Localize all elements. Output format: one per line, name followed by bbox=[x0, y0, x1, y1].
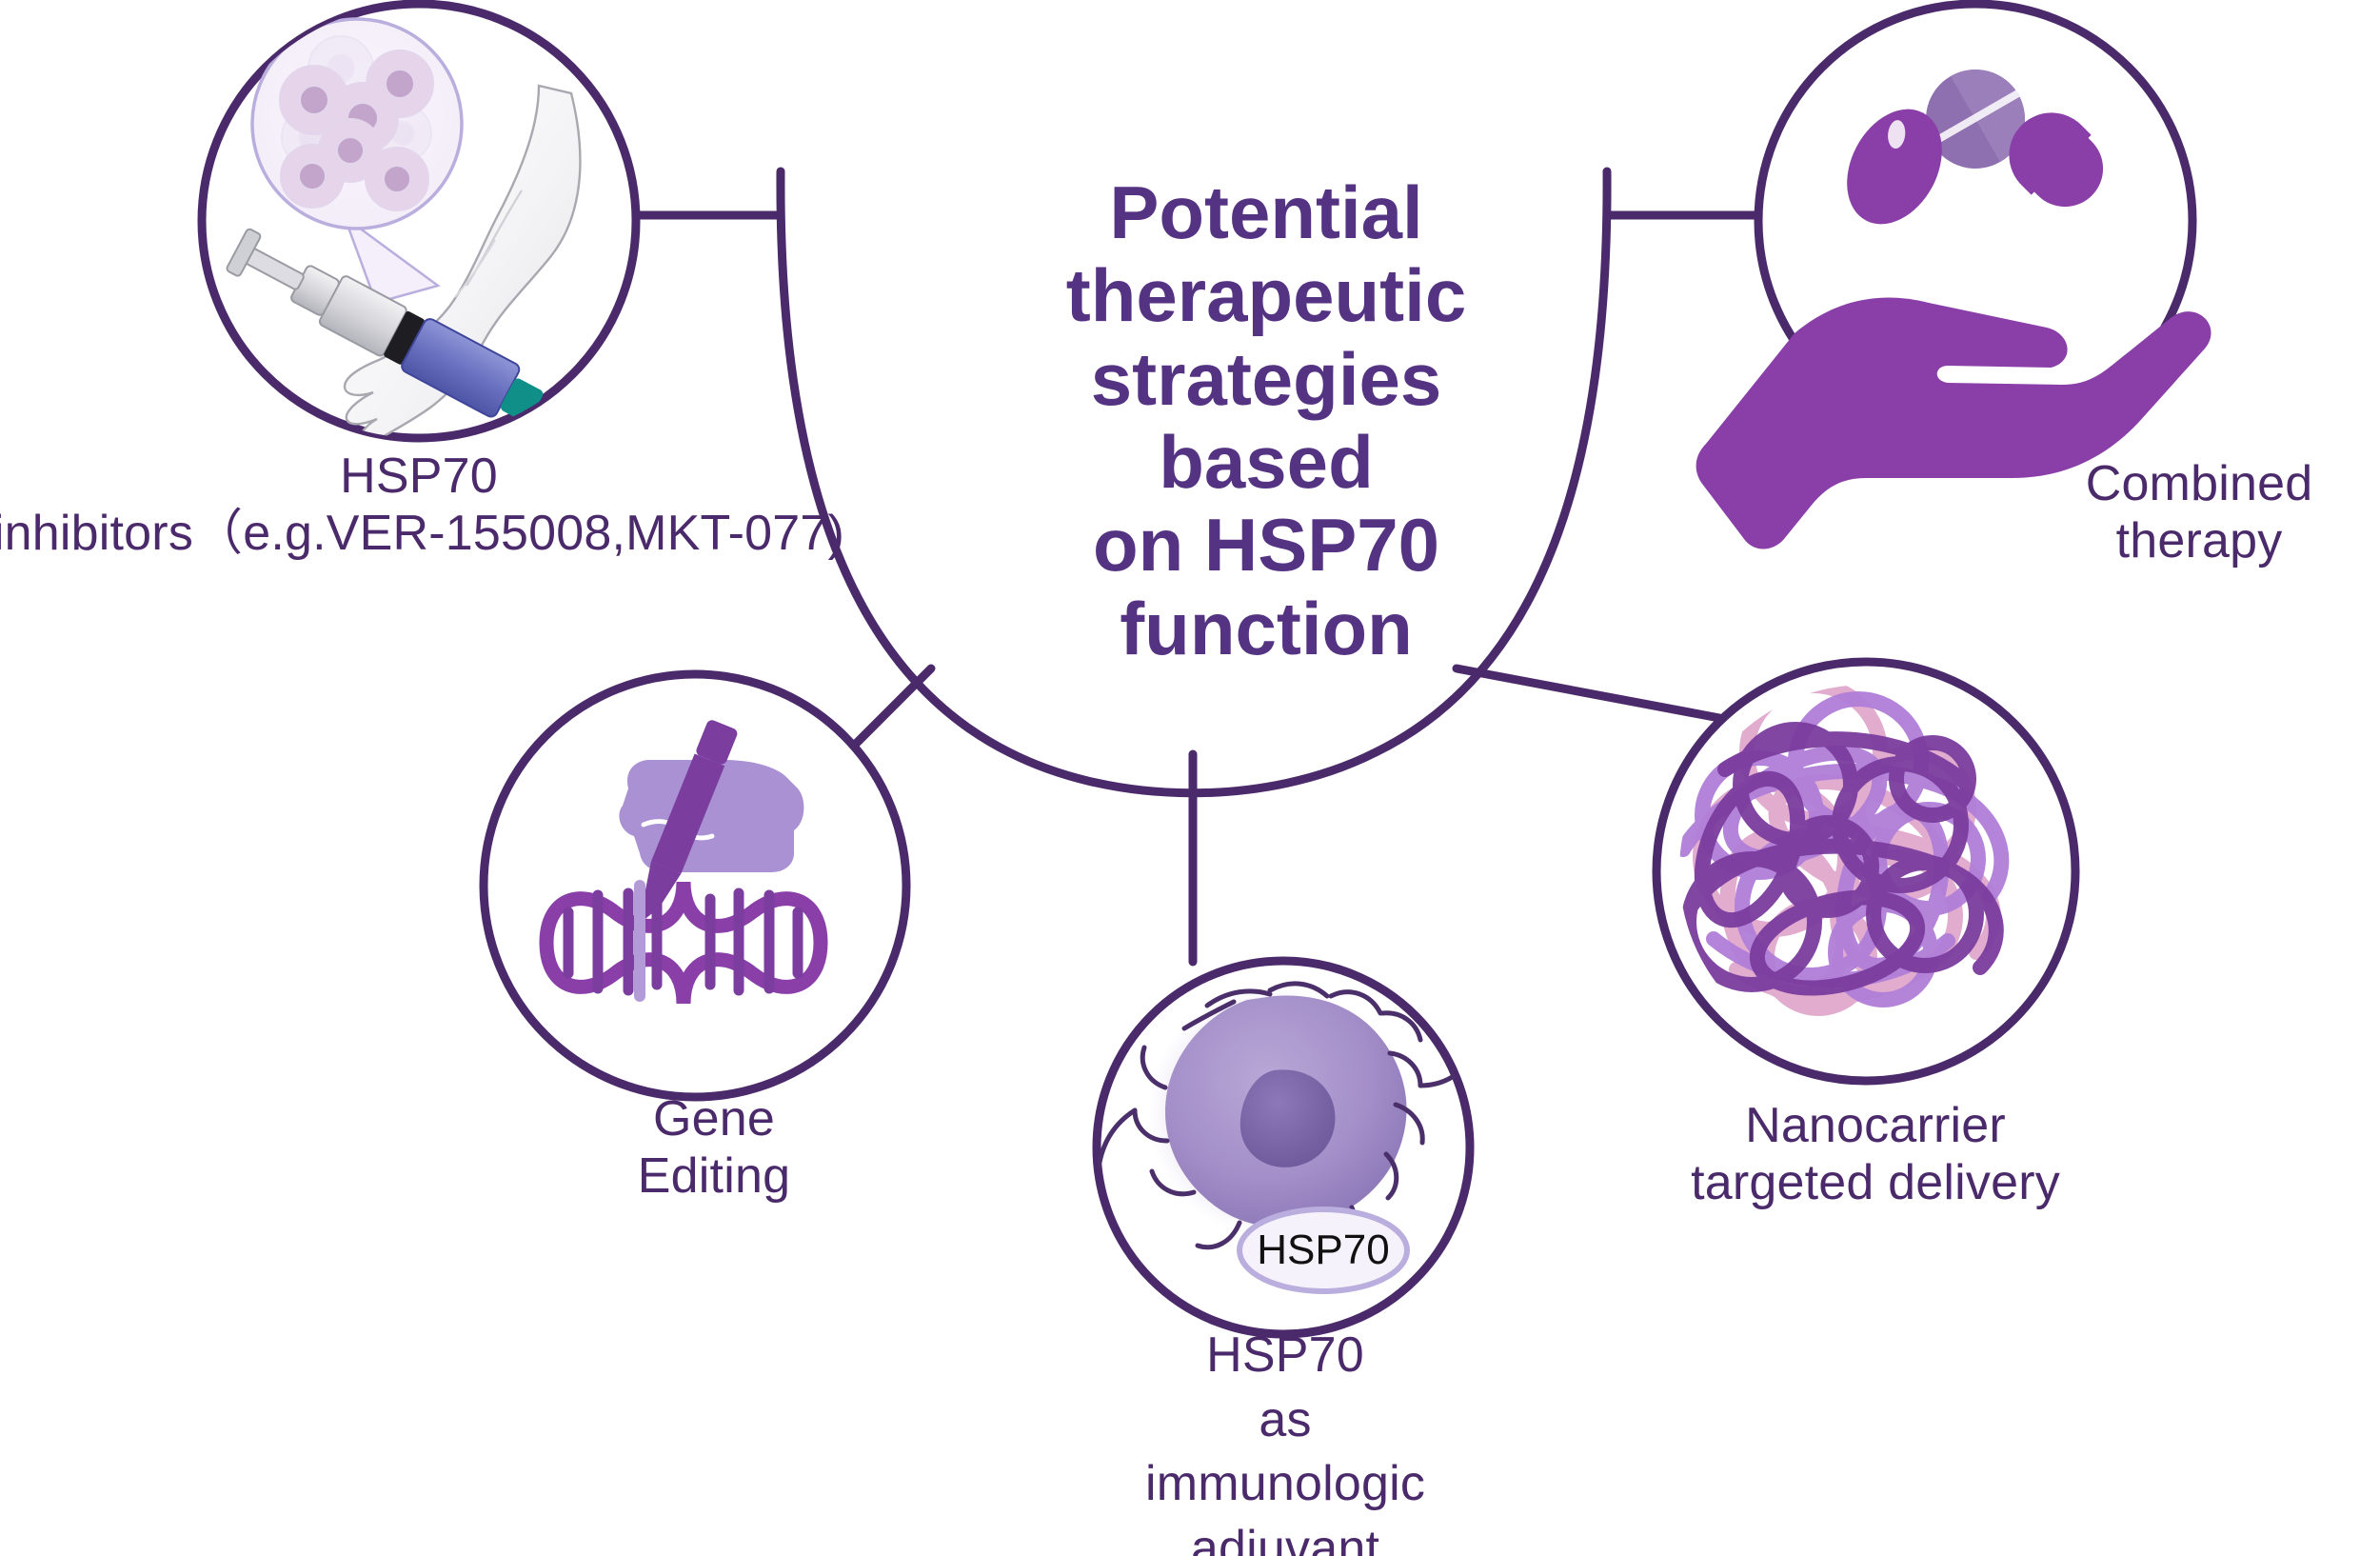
label-hsp70-inhibitors: HSP70 inhibitors（e.g.VER-155008,MKT-077) bbox=[0, 448, 876, 563]
label-hsp70-adjuvant: HSP70 as immunologic adjuvant bbox=[1095, 1324, 1476, 1556]
page-title: Potential therapeutic strategies based o… bbox=[990, 171, 1542, 670]
hsp70-badge-text: HSP70 bbox=[1240, 1227, 1407, 1274]
label-combined-therapy: Combined therapy bbox=[2009, 455, 2380, 570]
connector-bottom-right bbox=[1457, 668, 1750, 724]
label-gene-editing: Gene Editing bbox=[514, 1090, 914, 1206]
figure-canvas: Potential therapeutic strategies based o… bbox=[0, 0, 2380, 1556]
cell-nucleus bbox=[1240, 1069, 1336, 1167]
label-nanocarrier: Nanocarrier targeted delivery bbox=[1647, 1097, 2104, 1212]
circle-gene-editing bbox=[484, 674, 906, 1097]
